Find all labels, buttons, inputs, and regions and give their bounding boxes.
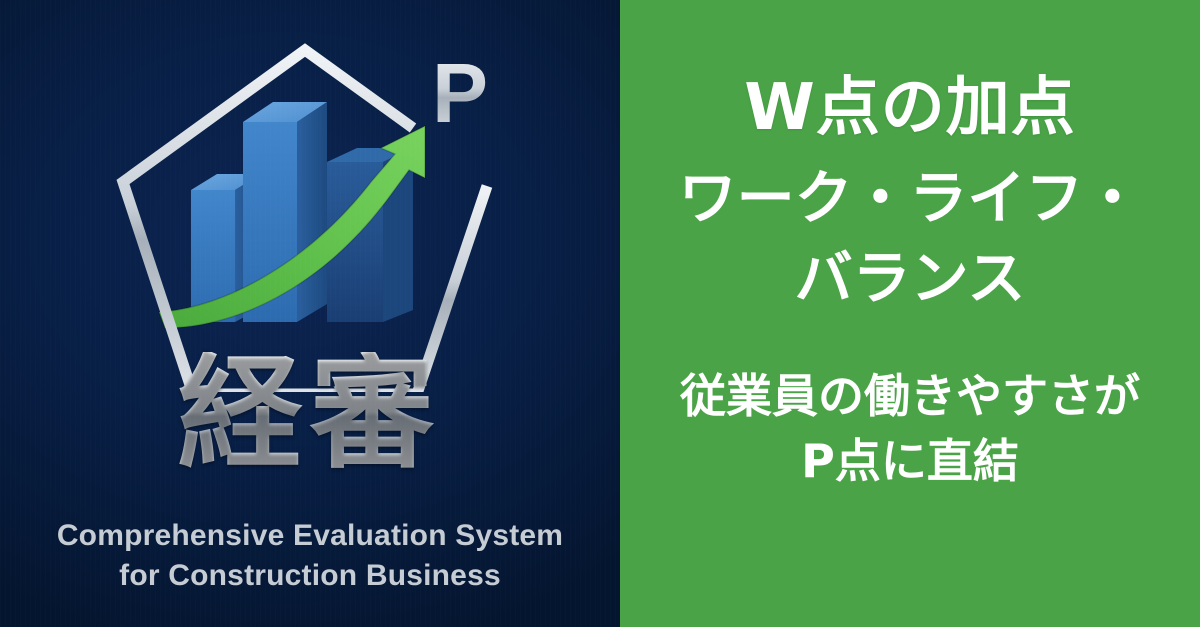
keishin-pentagon-emblem: P	[95, 22, 515, 392]
body-message-line1: 従業員の働きやすさが	[620, 364, 1200, 429]
body-message-line2: P点に直結	[620, 429, 1200, 494]
subheadline: ワーク・ライフ・ バランス	[620, 158, 1200, 318]
message-panel: W点の加点 ワーク・ライフ・ バランス 従業員の働きやすさが P点に直結	[620, 0, 1200, 630]
logo-kanji-title: 経審	[0, 352, 620, 476]
body-message: 従業員の働きやすさが P点に直結	[620, 364, 1200, 495]
logo-letter-p: P	[432, 46, 488, 140]
slide-canvas: P 経審 Comprehensive Evaluation System for…	[0, 0, 1200, 630]
logo-panel: P 経審 Comprehensive Evaluation System for…	[0, 0, 620, 630]
english-caption-line2: for Construction Business	[0, 556, 620, 596]
subheadline-line2: バランス	[620, 238, 1200, 318]
logo-english-caption: Comprehensive Evaluation System for Cons…	[0, 516, 620, 595]
logo-bar-chart	[191, 102, 413, 322]
subheadline-line1: ワーク・ライフ・	[620, 158, 1200, 238]
headline-title: W点の加点	[620, 76, 1200, 140]
english-caption-line1: Comprehensive Evaluation System	[57, 519, 563, 552]
